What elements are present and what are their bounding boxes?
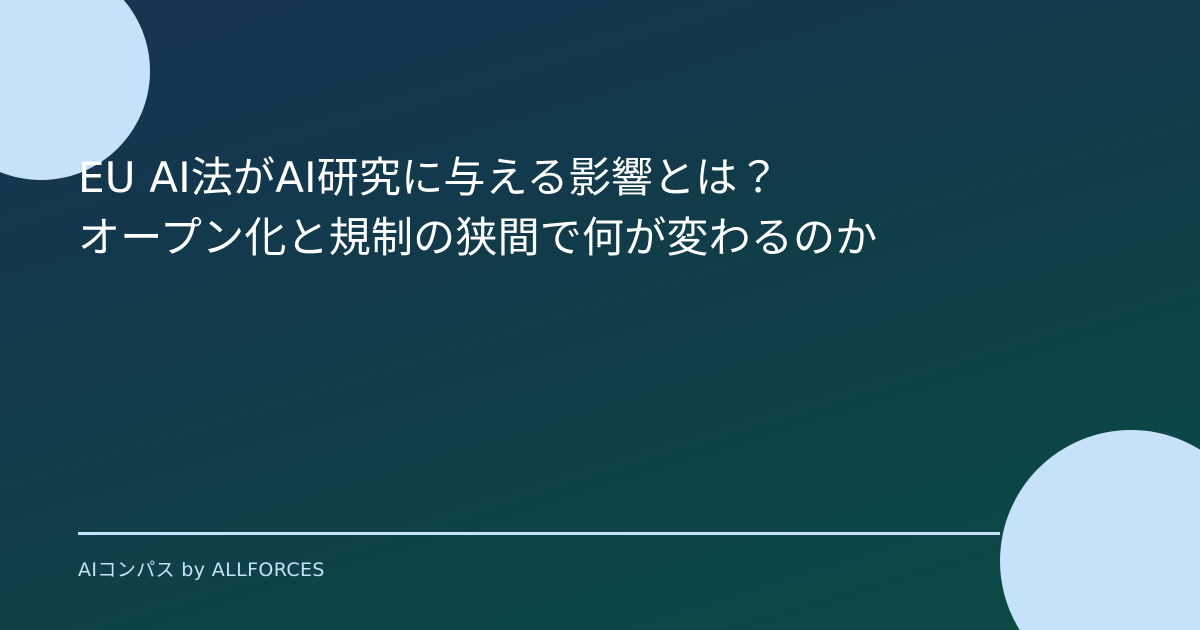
brand-label: AIコンパス by ALLFORCES <box>78 555 1000 582</box>
page-title-line-2: オープン化と規制の狭間で何が変わるのか <box>78 208 1118 268</box>
page-title-line-1: EU AI法がAI研究に与える影響とは？ <box>78 148 1118 208</box>
card-footer: AIコンパス by ALLFORCES <box>78 532 1000 582</box>
category-badge: 論文 <box>78 64 131 102</box>
og-card: 論文 EU AI法がAI研究に与える影響とは？ オープン化と規制の狭間で何が変わ… <box>0 0 1200 630</box>
category-badge-row: 論文 <box>78 64 131 102</box>
page-title: EU AI法がAI研究に与える影響とは？ オープン化と規制の狭間で何が変わるのか <box>78 148 1118 267</box>
footer-divider <box>78 532 1000 535</box>
card-content: 論文 EU AI法がAI研究に与える影響とは？ オープン化と規制の狭間で何が変わ… <box>0 0 1200 630</box>
